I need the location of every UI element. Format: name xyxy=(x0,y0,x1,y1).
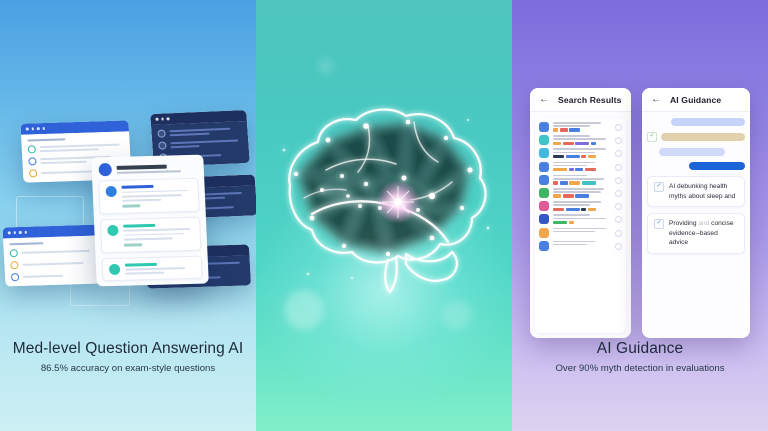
text-part-muted: and xyxy=(698,220,709,227)
panel-neural-brain xyxy=(256,0,512,431)
result-tag-chip xyxy=(553,194,561,197)
phone-header-search: ← Search Results xyxy=(530,88,631,112)
window-dot-icon xyxy=(31,128,34,131)
caption-subtitle: 86.5% accuracy on exam-style questions xyxy=(0,363,256,374)
window-dot-icon xyxy=(167,117,170,120)
result-row-content xyxy=(553,201,611,211)
checkbox-icon[interactable]: ✓ xyxy=(654,182,664,192)
result-row-content xyxy=(553,135,611,145)
result-row-content xyxy=(553,122,611,132)
list-bullet-icon xyxy=(11,273,19,281)
result-badge-icon xyxy=(105,186,116,197)
chat-row-tan: ✓ xyxy=(647,132,745,142)
window-dot-icon xyxy=(155,118,158,121)
result-tag-chip xyxy=(563,194,574,197)
guidance-item[interactable]: ✓ AI debunking health myths about sleep … xyxy=(647,176,745,207)
result-tag-chip xyxy=(566,155,580,158)
row-action-icon[interactable] xyxy=(615,216,622,223)
result-tag-chip xyxy=(553,208,564,211)
row-action-icon[interactable] xyxy=(615,243,622,250)
neural-brain-svg xyxy=(256,78,512,298)
row-action-icon[interactable] xyxy=(615,150,622,157)
phone-ai-guidance: ← AI Guidance ✓ xyxy=(642,88,750,338)
result-type-icon xyxy=(539,162,549,172)
browser-content xyxy=(3,236,101,287)
browser-card-light xyxy=(2,225,101,287)
row-action-icon[interactable] xyxy=(615,124,622,131)
window-dot-icon xyxy=(26,128,29,131)
result-tag-chip xyxy=(582,181,596,184)
row-action-icon[interactable] xyxy=(615,190,622,197)
window-dot-icon xyxy=(8,232,11,235)
row-action-icon[interactable] xyxy=(615,203,622,210)
result-type-icon xyxy=(539,228,549,238)
chat-bubble-outgoing xyxy=(689,162,745,170)
list-bullet-icon xyxy=(10,249,18,257)
caption-title: AI Guidance xyxy=(512,340,768,357)
row-action-icon[interactable] xyxy=(615,230,622,237)
card-header xyxy=(91,155,204,181)
search-result-row[interactable] xyxy=(539,201,622,211)
checkbox-icon[interactable]: ✓ xyxy=(654,219,664,229)
result-row-content xyxy=(553,175,611,185)
result-item xyxy=(100,216,201,252)
result-badge-icon xyxy=(107,225,118,236)
list-bullet-icon xyxy=(28,157,36,165)
window-dot-icon xyxy=(42,127,45,130)
result-item xyxy=(98,178,199,214)
result-tag-chip xyxy=(553,128,558,131)
featured-result-card xyxy=(91,155,209,287)
search-result-row[interactable] xyxy=(539,228,622,238)
result-tag-chip xyxy=(575,168,583,171)
list-bullet-icon xyxy=(158,141,167,149)
result-tag-chips xyxy=(553,168,611,171)
result-tag-chip xyxy=(569,181,580,184)
result-tag-chip xyxy=(566,208,580,211)
result-tag-chips xyxy=(553,181,611,184)
result-tag-chip xyxy=(560,128,568,131)
result-tag-chip xyxy=(581,155,586,158)
search-result-row[interactable] xyxy=(539,175,622,185)
window-dot-icon xyxy=(37,127,40,130)
phone-title-search: Search Results xyxy=(558,95,622,105)
caption-title: Med-level Question Answering AI xyxy=(0,340,256,357)
result-tag-chip xyxy=(553,181,558,184)
chat-bubble-incoming xyxy=(671,118,745,126)
result-tag-chip xyxy=(569,221,574,224)
result-tag-chip xyxy=(569,128,580,131)
panel-med-qa: Med-level Question Answering AI 86.5% ac… xyxy=(0,0,256,431)
list-bullet-icon xyxy=(10,261,18,269)
result-type-icon xyxy=(539,135,549,145)
phone-body-guidance: ✓ ✓ AI debunking health myths about slee… xyxy=(642,112,750,338)
back-arrow-icon[interactable]: ← xyxy=(539,95,549,105)
search-result-row[interactable] xyxy=(539,162,622,172)
result-tag-chip xyxy=(591,142,596,145)
text-part-a: Providing xyxy=(669,220,698,227)
row-action-icon[interactable] xyxy=(615,137,622,144)
chat-bubble-incoming xyxy=(659,148,725,156)
search-result-row[interactable] xyxy=(539,135,622,145)
row-action-icon[interactable] xyxy=(615,177,622,184)
result-row-content xyxy=(553,148,611,158)
bokeh-circle xyxy=(442,300,472,330)
result-row-content xyxy=(553,162,611,172)
caption-ai-guidance: AI Guidance Over 90% myth detection in e… xyxy=(512,340,768,374)
search-result-row[interactable] xyxy=(539,148,622,158)
result-row-content xyxy=(553,241,611,246)
back-arrow-icon[interactable]: ← xyxy=(651,95,661,105)
row-action-icon[interactable] xyxy=(615,164,622,171)
result-tag-chip xyxy=(575,194,589,197)
result-tag-chip xyxy=(553,142,561,145)
result-row-content xyxy=(553,188,611,198)
result-type-icon xyxy=(539,241,549,251)
list-bullet-icon xyxy=(157,129,166,137)
result-type-icon xyxy=(539,122,549,132)
phone-search-results: ← Search Results xyxy=(530,88,631,338)
result-tag-chip xyxy=(563,142,574,145)
result-type-icon xyxy=(539,214,549,224)
window-dot-icon xyxy=(19,231,22,234)
result-type-icon xyxy=(539,148,549,158)
result-tag-chips xyxy=(553,155,611,158)
caption-med-qa: Med-level Question Answering AI 86.5% ac… xyxy=(0,340,256,374)
result-row-content xyxy=(553,228,611,233)
list-bullet-icon xyxy=(29,169,37,177)
phone-body-search xyxy=(530,112,631,338)
result-type-icon xyxy=(539,188,549,198)
window-dot-icon xyxy=(13,231,16,234)
brand-avatar-icon xyxy=(98,163,112,176)
guidance-item[interactable]: ✓ Providing and concise evidence--based … xyxy=(647,213,745,254)
phone-header-guidance: ← AI Guidance xyxy=(642,88,750,112)
guidance-item-text: Providing and concise evidence--based ad… xyxy=(669,219,738,248)
result-tag-chip xyxy=(569,168,574,171)
result-tag-chip xyxy=(588,155,596,158)
brain-illustration xyxy=(256,78,512,298)
result-tag-chip xyxy=(581,208,586,211)
result-tag-chips xyxy=(553,142,611,145)
result-tag-chip xyxy=(560,181,568,184)
result-tag-chips xyxy=(553,208,611,211)
list-bullet-icon xyxy=(28,145,36,153)
window-dot-icon xyxy=(161,118,164,121)
search-result-row[interactable] xyxy=(539,241,622,251)
panel-ai-guidance: ← Search Results ← AI Guidance ✓ xyxy=(512,0,768,431)
result-row-content xyxy=(553,214,611,224)
search-result-row[interactable] xyxy=(539,214,622,224)
result-tag-chip xyxy=(553,168,567,171)
caption-subtitle: Over 90% myth detection in evaluations xyxy=(512,363,768,374)
result-tag-chips xyxy=(553,221,611,224)
chat-bubble-tan xyxy=(661,133,745,141)
checkbox-icon[interactable]: ✓ xyxy=(647,132,657,142)
result-tag-chip xyxy=(553,155,564,158)
result-tag-chips xyxy=(553,128,611,131)
result-item xyxy=(102,255,203,281)
result-type-icon xyxy=(539,175,549,185)
three-panel-hero-graphic: Med-level Question Answering AI 86.5% ac… xyxy=(0,0,768,431)
phone-title-guidance: AI Guidance xyxy=(670,95,721,105)
bokeh-circle xyxy=(318,58,334,74)
search-results-list[interactable] xyxy=(535,118,626,333)
result-tag-chip xyxy=(585,168,596,171)
result-tag-chip xyxy=(575,142,589,145)
result-tag-chip xyxy=(588,208,596,211)
result-tag-chip xyxy=(553,221,567,224)
search-result-row[interactable] xyxy=(539,122,622,132)
guidance-item-text: AI debunking health myths about sleep an… xyxy=(669,182,738,201)
result-badge-icon xyxy=(109,263,120,274)
window-dot-icon xyxy=(24,231,27,234)
search-result-row[interactable] xyxy=(539,188,622,198)
result-tag-chips xyxy=(553,194,611,197)
result-type-icon xyxy=(539,201,549,211)
